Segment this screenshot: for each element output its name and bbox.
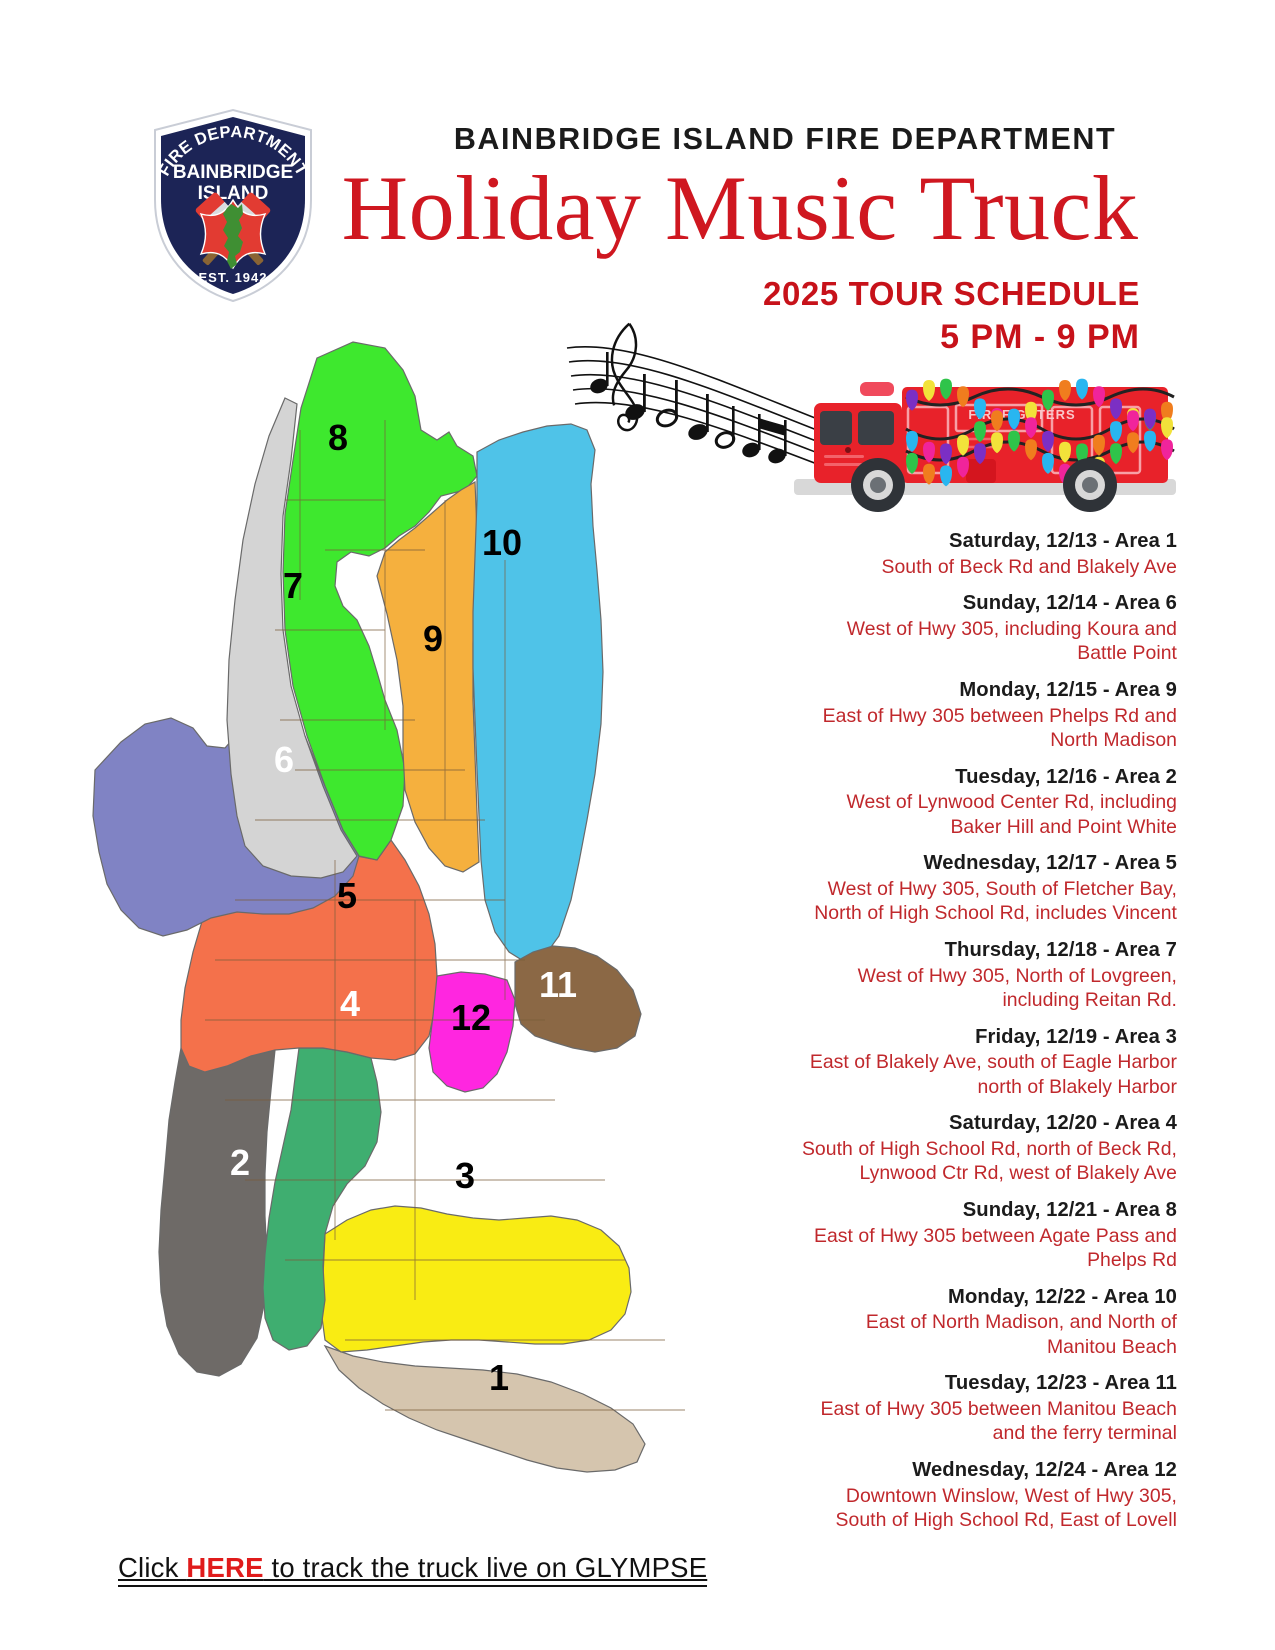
schedule-entry-heading: Sunday, 12/21 - Area 8 — [740, 1197, 1177, 1224]
schedule-entry-heading: Wednesday, 12/24 - Area 12 — [740, 1457, 1177, 1484]
glympse-tracking-link[interactable]: Click HERE to track the truck live on GL… — [118, 1552, 707, 1587]
schedule-entry: Monday, 12/15 - Area 9East of Hwy 305 be… — [740, 677, 1177, 752]
schedule-entry-description: West of Hwy 305, North of Lovgreen, — [740, 964, 1177, 988]
schedule-entry-description: West of Hwy 305, South of Fletcher Bay, — [740, 877, 1177, 901]
schedule-entry-description: West of Lynwood Center Rd, including — [740, 790, 1177, 814]
schedule-entry-description: North Madison — [740, 728, 1177, 752]
schedule-entry-description: Baker Hill and Point White — [740, 815, 1177, 839]
schedule-entry-description: South of Beck Rd and Blakely Ave — [740, 555, 1177, 579]
schedule-entry: Sunday, 12/14 - Area 6West of Hwy 305, i… — [740, 590, 1177, 665]
map-area-1[interactable] — [325, 1346, 645, 1472]
schedule-entry: Friday, 12/19 - Area 3East of Blakely Av… — [740, 1024, 1177, 1099]
schedule-entry-description: North of High School Rd, includes Vincen… — [740, 901, 1177, 925]
schedule-entry-heading: Wednesday, 12/17 - Area 5 — [740, 850, 1177, 877]
schedule-entry-heading: Thursday, 12/18 - Area 7 — [740, 937, 1177, 964]
schedule-entry-heading: Saturday, 12/13 - Area 1 — [740, 528, 1177, 555]
schedule-entry-description: Phelps Rd — [740, 1248, 1177, 1272]
schedule-entry-heading: Sunday, 12/14 - Area 6 — [740, 590, 1177, 617]
schedule-entry-description: South of High School Rd, north of Beck R… — [740, 1137, 1177, 1161]
organization-name: BAINBRIDGE ISLAND FIRE DEPARTMENT — [430, 122, 1140, 157]
schedule-entry: Tuesday, 12/16 - Area 2West of Lynwood C… — [740, 764, 1177, 839]
poster-root: FIRE DEPARTMENT BAINBRIDGE ISLAND — [0, 0, 1275, 1650]
schedule-entry-description: including Reitan Rd. — [740, 988, 1177, 1012]
schedule-entry-description: and the ferry terminal — [740, 1421, 1177, 1445]
schedule-entry: Tuesday, 12/23 - Area 11East of Hwy 305 … — [740, 1370, 1177, 1445]
link-prefix: Click — [118, 1552, 186, 1583]
schedule-entry-heading: Saturday, 12/20 - Area 4 — [740, 1110, 1177, 1137]
schedule-entry-description: East of Hwy 305 between Manitou Beach — [740, 1397, 1177, 1421]
bainbridge-island-area-map[interactable]: 123456789101112 — [85, 300, 725, 1490]
map-area-label-8: 8 — [328, 417, 348, 458]
schedule-entry: Wednesday, 12/24 - Area 12Downtown Winsl… — [740, 1457, 1177, 1532]
map-area-label-3: 3 — [455, 1155, 475, 1196]
map-area-label-1: 1 — [489, 1357, 509, 1398]
schedule-entry-heading: Friday, 12/19 - Area 3 — [740, 1024, 1177, 1051]
schedule-entry-heading: Tuesday, 12/23 - Area 11 — [740, 1370, 1177, 1397]
fire-department-logo: FIRE DEPARTMENT BAINBRIDGE ISLAND — [143, 104, 323, 306]
schedule-entry-description: Lynwood Ctr Rd, west of Blakely Ave — [740, 1161, 1177, 1185]
schedule-entry-description: West of Hwy 305, including Koura and — [740, 617, 1177, 641]
schedule-entry-description: East of Hwy 305 between Phelps Rd and — [740, 704, 1177, 728]
map-area-label-4: 4 — [340, 983, 360, 1024]
page-title: Holiday Music Truck — [340, 160, 1140, 257]
schedule-entry-description: East of North Madison, and North of — [740, 1310, 1177, 1334]
schedule-entry: Thursday, 12/18 - Area 7West of Hwy 305,… — [740, 937, 1177, 1012]
schedule-entry-description: East of Hwy 305 between Agate Pass and — [740, 1224, 1177, 1248]
map-area-label-12: 12 — [451, 997, 491, 1038]
schedule-entry-heading: Monday, 12/22 - Area 10 — [740, 1284, 1177, 1311]
schedule-entry-heading: Tuesday, 12/16 - Area 2 — [740, 764, 1177, 791]
map-area-2[interactable] — [159, 1048, 275, 1376]
map-area-label-2: 2 — [230, 1142, 250, 1183]
map-area-label-11: 11 — [539, 964, 577, 1005]
map-area-label-10: 10 — [482, 522, 522, 563]
map-area-10[interactable] — [473, 424, 603, 962]
schedule-entry-description: South of High School Rd, East of Lovell — [740, 1508, 1177, 1532]
schedule-entry-description: East of Blakely Ave, south of Eagle Harb… — [740, 1050, 1177, 1074]
map-area-label-7: 7 — [283, 565, 303, 606]
map-area-11[interactable] — [515, 946, 641, 1052]
tour-schedule-list: Saturday, 12/13 - Area 1South of Beck Rd… — [740, 528, 1177, 1544]
schedule-entry-description: Battle Point — [740, 641, 1177, 665]
schedule-entry: Monday, 12/22 - Area 10East of North Mad… — [740, 1284, 1177, 1359]
schedule-entry-description: Downtown Winslow, West of Hwy 305, — [740, 1484, 1177, 1508]
schedule-entry: Saturday, 12/20 - Area 4South of High Sc… — [740, 1110, 1177, 1185]
map-area-label-5: 5 — [337, 875, 357, 916]
map-area-3[interactable] — [321, 1206, 631, 1352]
schedule-entry-description: north of Blakely Harbor — [740, 1075, 1177, 1099]
link-here-word: HERE — [186, 1552, 263, 1583]
map-area-label-9: 9 — [423, 618, 443, 659]
schedule-entry: Saturday, 12/13 - Area 1South of Beck Rd… — [740, 528, 1177, 579]
fire-truck-illustration: FIREFIGHTERS — [790, 355, 1180, 520]
logo-established: EST. 1942 — [199, 270, 268, 285]
schedule-entry: Wednesday, 12/17 - Area 5West of Hwy 305… — [740, 850, 1177, 925]
logo-line1: BAINBRIDGE — [173, 162, 293, 183]
link-suffix: to track the truck live on GLYMPSE — [264, 1552, 708, 1583]
schedule-entry-description: Manitou Beach — [740, 1335, 1177, 1359]
map-area-label-6: 6 — [274, 739, 294, 780]
schedule-entry: Sunday, 12/21 - Area 8East of Hwy 305 be… — [740, 1197, 1177, 1272]
schedule-entry-heading: Monday, 12/15 - Area 9 — [740, 677, 1177, 704]
